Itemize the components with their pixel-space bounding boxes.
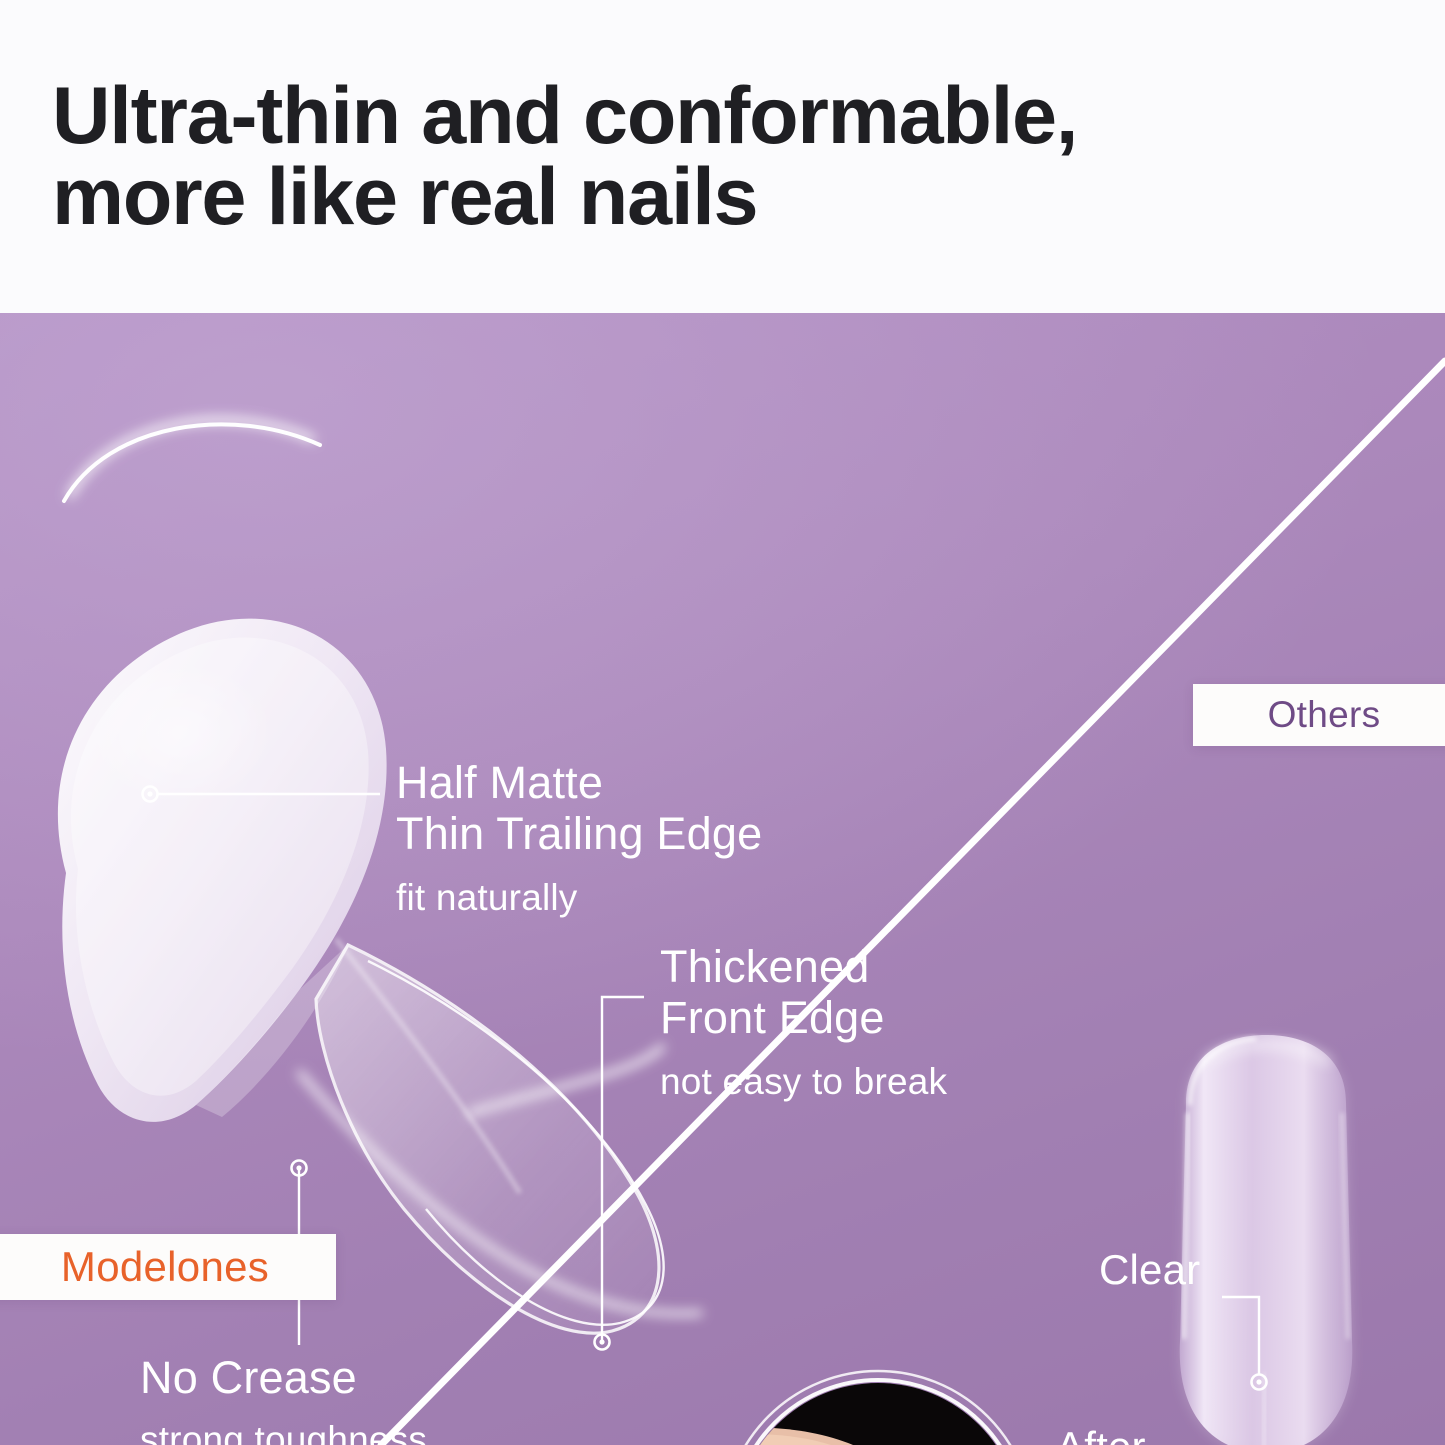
header-band: Ultra-thin and conformable, more like re…	[0, 0, 1445, 313]
badge-modelones-label: Modelones	[61, 1243, 269, 1291]
page-title: Ultra-thin and conformable, more like re…	[52, 76, 1405, 236]
callout-no-crease-subtitle: strong toughness	[140, 1418, 427, 1445]
bend-photo-inset	[700, 1371, 1033, 1445]
callout-clear-title: Clear	[1099, 1246, 1200, 1293]
infographic-canvas: Ultra-thin and conformable, more like re…	[0, 0, 1445, 1445]
callout-thickened-subtitle: not easy to break	[660, 1060, 947, 1104]
callout-half-matte: Half Matte Thin Trailing Edge fit natura…	[396, 758, 762, 920]
callout-after-bend-title: After Bend	[1056, 1423, 1155, 1445]
badge-others: Others	[1193, 684, 1445, 746]
callout-thickened-front-edge: Thickened Front Edge not easy to break	[660, 942, 947, 1104]
callout-half-matte-subtitle: fit naturally	[396, 876, 762, 920]
callout-no-crease-title: No Crease	[140, 1353, 427, 1404]
badge-modelones: Modelones	[0, 1234, 336, 1300]
callout-clear: Clear	[1099, 1246, 1200, 1293]
callout-thickened-title: Thickened Front Edge	[660, 942, 947, 1044]
badge-others-label: Others	[1268, 694, 1381, 736]
callout-no-crease: No Crease strong toughness	[140, 1353, 427, 1445]
callout-after-bend: After Bend	[1056, 1423, 1155, 1445]
comparison-stage: Modelones Others Half Matte Thin Trailin…	[0, 313, 1445, 1445]
callout-half-matte-title: Half Matte Thin Trailing Edge	[396, 758, 762, 860]
